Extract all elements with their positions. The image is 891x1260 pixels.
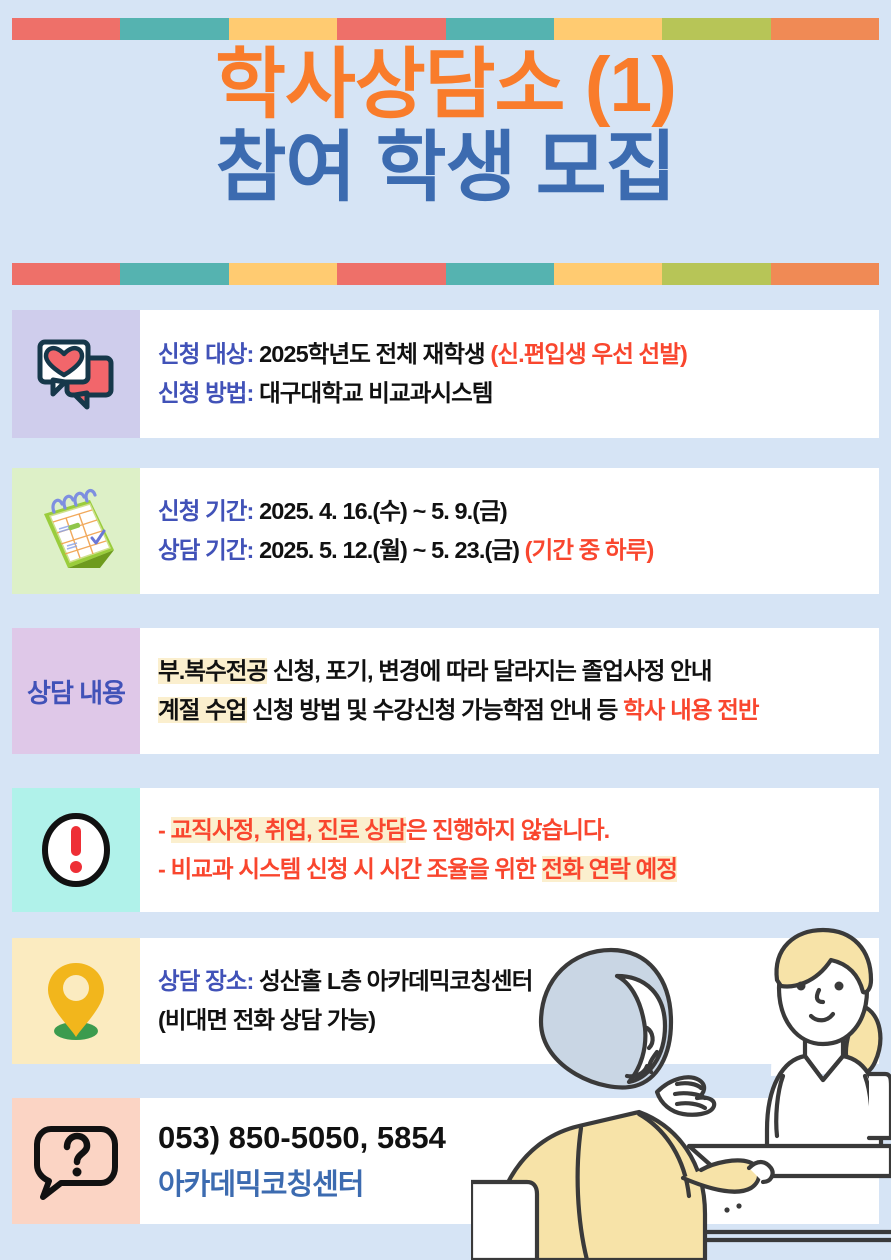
card-line: 계절 수업 신청 방법 및 수강신청 가능학점 안내 등 학사 내용 전반: [158, 691, 865, 730]
card-icon-panel: [12, 310, 140, 438]
card-line: 신청 기간: 2025. 4. 16.(수) ~ 5. 9.(금): [158, 492, 865, 531]
color-bar-segment-2: [120, 18, 228, 40]
phone-number: 053) 850-5050, 5854: [158, 1113, 865, 1163]
counseling-topics-label: 상담 내용: [27, 673, 125, 710]
card-line: 부.복수전공 신청, 포기, 변경에 따라 달라지는 졸업사정 안내: [158, 652, 865, 691]
card-contact: 053) 850-5050, 5854 아카데믹코칭센터: [12, 1098, 879, 1224]
line-value: (비대면 전화 상담 가능): [158, 1007, 375, 1033]
color-bar-segment-8: [771, 18, 879, 40]
card-line: 상담 장소: 성산홀 L층 아카데믹코칭센터: [158, 962, 865, 1001]
line-value: 신청, 포기, 변경에 따라 달라지는 졸업사정 안내: [267, 658, 711, 684]
line-value: 대구대학교 비교과시스템: [259, 380, 493, 406]
card-schedule: 신청 기간: 2025. 4. 16.(수) ~ 5. 9.(금) 상담 기간:…: [12, 468, 879, 594]
title-line-1: 학사상담소 (1): [0, 44, 891, 127]
line-label: 신청 기간:: [158, 498, 253, 524]
color-bar-segment-6: [554, 263, 662, 285]
page-title: 학사상담소 (1) 참여 학생 모집: [0, 44, 891, 210]
card-icon-panel: 상담 내용: [12, 628, 140, 754]
color-bar-segment-3: [229, 263, 337, 285]
line-label: 상담 장소:: [158, 968, 253, 994]
card-icon-panel: [12, 938, 140, 1064]
color-bar-segment-1: [12, 263, 120, 285]
card-body: 053) 850-5050, 5854 아카데믹코칭센터: [140, 1098, 879, 1224]
line-value: 비교과 시스템 신청 시 시간 조율을 위한: [171, 856, 542, 882]
poster-root: 학사상담소 (1) 참여 학생 모집 신청 대상: 2025학년도 전체 재학생…: [0, 0, 891, 1260]
line-note: 학사 내용 전반: [623, 697, 759, 723]
card-icon-panel: [12, 468, 140, 594]
card-body: 상담 장소: 성산홀 L층 아카데믹코칭센터 (비대면 전화 상담 가능): [140, 938, 879, 1064]
line-value: 은 진행하지 않습니다.: [406, 817, 609, 843]
card-counseling-topics: 상담 내용 부.복수전공 신청, 포기, 변경에 따라 달라지는 졸업사정 안내…: [12, 628, 879, 754]
card-location: 상담 장소: 성산홀 L층 아카데믹코칭센터 (비대면 전화 상담 가능): [12, 938, 879, 1064]
card-icon-panel: [12, 1098, 140, 1224]
color-bar-bottom: [12, 263, 879, 285]
color-bar-segment-5: [446, 263, 554, 285]
line-value: 성산홀 L층 아카데믹코칭센터: [259, 968, 532, 994]
color-bar-segment-1: [12, 18, 120, 40]
card-body: 신청 대상: 2025학년도 전체 재학생 (신.편입생 우선 선발) 신청 방…: [140, 310, 879, 438]
card-apply-info: 신청 대상: 2025학년도 전체 재학생 (신.편입생 우선 선발) 신청 방…: [12, 310, 879, 438]
color-bar-segment-5: [446, 18, 554, 40]
color-bar-segment-4: [337, 18, 445, 40]
line-note: 전화 연락 예정: [542, 856, 678, 882]
card-body: 신청 기간: 2025. 4. 16.(수) ~ 5. 9.(금) 상담 기간:…: [140, 468, 879, 594]
line-label: 상담 기간:: [158, 537, 253, 563]
line-value: 2025. 5. 12.(월) ~ 5. 23.(금): [259, 537, 519, 563]
color-bar-top: [12, 18, 879, 40]
line-highlight: 계절 수업: [158, 697, 247, 723]
card-line: (비대면 전화 상담 가능): [158, 1001, 865, 1040]
line-highlight: 교직사정, 취업, 진로 상담: [171, 817, 406, 843]
question-chat-icon: [31, 1121, 121, 1201]
card-line: 상담 기간: 2025. 5. 12.(월) ~ 5. 23.(금) (기간 중…: [158, 531, 865, 570]
card-line: 신청 방법: 대구대학교 비교과시스템: [158, 374, 865, 413]
organization-name: 아카데믹코칭센터: [158, 1162, 865, 1209]
title-line-2: 참여 학생 모집: [0, 127, 891, 210]
line-value: 신청 방법 및 수강신청 가능학점 안내 등: [247, 697, 624, 723]
card-line: 신청 대상: 2025학년도 전체 재학생 (신.편입생 우선 선발): [158, 335, 865, 374]
line-label: 신청 대상:: [158, 341, 253, 367]
chat-heart-icon: [34, 335, 118, 413]
color-bar-segment-6: [554, 18, 662, 40]
card-line: - 교직사정, 취업, 진로 상담은 진행하지 않습니다.: [158, 811, 865, 850]
line-dash: -: [158, 856, 165, 882]
color-bar-segment-3: [229, 18, 337, 40]
color-bar-segment-8: [771, 263, 879, 285]
exclamation-icon: [39, 810, 113, 890]
line-note: (신.편입생 우선 선발): [490, 341, 687, 367]
color-bar-segment-7: [662, 18, 770, 40]
card-notices: - 교직사정, 취업, 진로 상담은 진행하지 않습니다. - 비교과 시스템 …: [12, 788, 879, 912]
line-highlight: 부.복수전공: [158, 658, 267, 684]
color-bar-segment-2: [120, 263, 228, 285]
line-value: 2025학년도 전체 재학생: [259, 341, 485, 367]
line-value: 2025. 4. 16.(수) ~ 5. 9.(금): [259, 498, 507, 524]
card-line: - 비교과 시스템 신청 시 시간 조율을 위한 전화 연락 예정: [158, 850, 865, 889]
calendar-icon: [28, 488, 124, 574]
line-note: (기간 중 하루): [525, 537, 654, 563]
line-dash: -: [158, 817, 165, 843]
map-pin-icon: [40, 957, 112, 1045]
color-bar-segment-7: [662, 263, 770, 285]
card-body: - 교직사정, 취업, 진로 상담은 진행하지 않습니다. - 비교과 시스템 …: [140, 788, 879, 912]
card-body: 부.복수전공 신청, 포기, 변경에 따라 달라지는 졸업사정 안내 계절 수업…: [140, 628, 879, 754]
card-icon-panel: [12, 788, 140, 912]
color-bar-segment-4: [337, 263, 445, 285]
line-label: 신청 방법:: [158, 380, 253, 406]
